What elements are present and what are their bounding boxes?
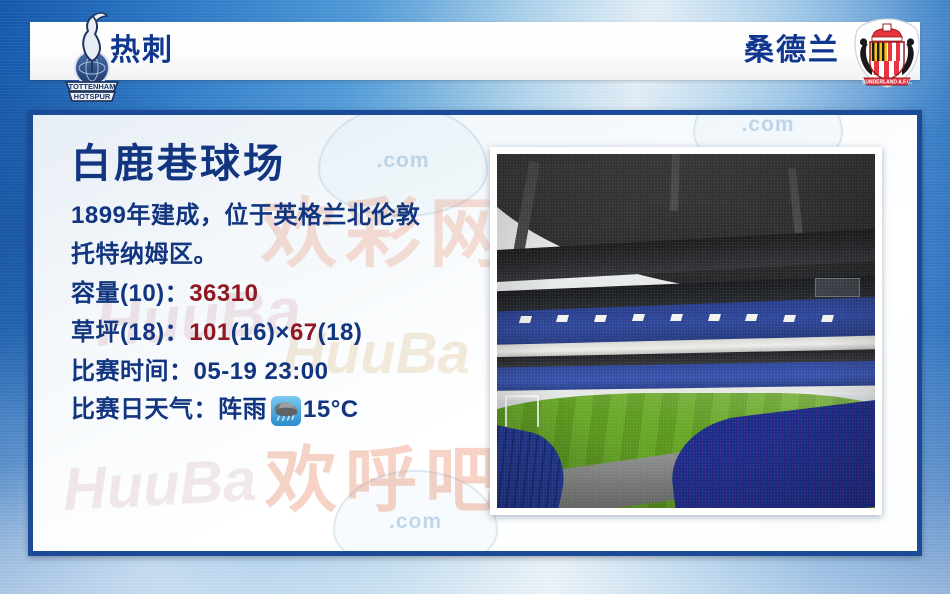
watermark-brand-cn-bottom: 欢呼吧 (265, 445, 505, 517)
pitch-length-rank: (16) (231, 319, 276, 346)
stadium-info-column: 白鹿巷球场 1899年建成，位于英格兰北伦敦 托特纳姆区。 容量(10)：363… (71, 143, 491, 430)
pitch-width-rank: (18) (318, 319, 363, 346)
stadium-title: 白鹿巷球场 (71, 143, 491, 185)
photo-floodlight-row (497, 310, 875, 335)
pitch-width-value: 67 (290, 319, 318, 346)
capacity-label: 容量(10)： (71, 280, 189, 307)
pitch-label: 草坪(18)： (71, 319, 189, 346)
tottenham-hotspur-crest: TOTTENHAM HOTSPUR (62, 4, 122, 104)
watermark-huuba-bottom: HuuBa (62, 450, 258, 520)
weather-row: 比赛日天气：阵雨 15°C (71, 391, 491, 430)
weather-temperature: 15°C (303, 391, 359, 430)
pitch-length-value: 101 (189, 319, 231, 346)
photo-scoreboard (815, 278, 860, 297)
pitch-size-row: 草坪(18)：101(16)×67(18) (71, 314, 491, 353)
away-team-name: 桑德兰 (744, 36, 840, 66)
match-time-value: 05-19 23:00 (194, 358, 329, 385)
capacity-row: 容量(10)：36310 (71, 275, 491, 314)
match-time-row: 比赛时间：05-19 23:00 (71, 353, 491, 392)
crest-scroll-text: SUNDERLAND A.F.C. (862, 79, 913, 85)
capacity-value: 36310 (189, 280, 258, 307)
watermark-dotcom-bottom: .com (389, 510, 442, 534)
stadium-description-line1: 1899年建成，位于英格兰北伦敦 (71, 202, 420, 229)
match-preview-stage: TOTTENHAM HOTSPUR 热刺 桑德兰 (0, 0, 950, 594)
crest-banner-top: TOTTENHAM (69, 82, 116, 91)
stadium-description-line2: 托特纳姆区。 (71, 241, 218, 268)
sunderland-afc-crest: SUNDERLAND A.F.C. (850, 16, 924, 90)
away-team-block: 桑德兰 (744, 22, 840, 80)
weather-condition: 阵雨 (218, 391, 267, 430)
stadium-info-panel: .com .com .com HuuBa HuuBa HuuBa 欢彩网 欢呼吧… (28, 110, 922, 556)
crest-banner-bottom: HOTSPUR (74, 92, 111, 101)
stadium-photo-frame (490, 147, 882, 515)
match-time-label: 比赛时间： (71, 358, 194, 385)
pitch-times-symbol: × (275, 319, 290, 346)
stadium-photo (497, 154, 875, 508)
watermark-bubble-bottom: .com (333, 470, 498, 556)
weather-label: 比赛日天气： (71, 391, 218, 430)
photo-goal (505, 395, 539, 427)
stadium-description: 1899年建成，位于英格兰北伦敦 托特纳姆区。 (71, 197, 491, 275)
watermark-dotcom-right: .com (741, 113, 794, 137)
rain-cloud-icon (271, 396, 301, 426)
